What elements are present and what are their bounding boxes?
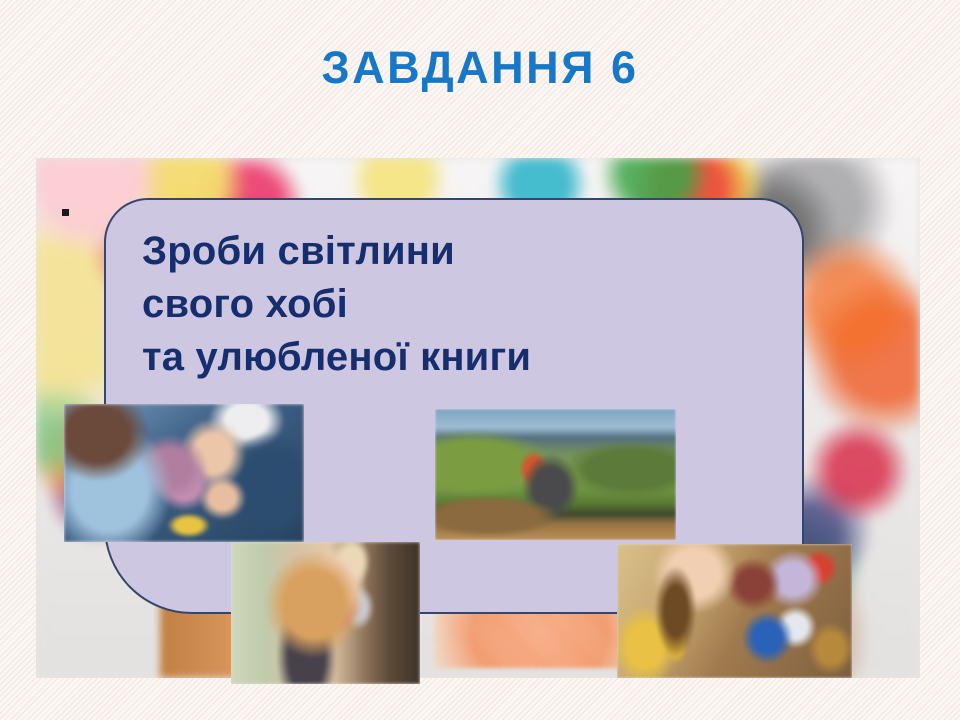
painting-photo-content [617, 544, 852, 678]
guitar-photo-content [231, 542, 420, 684]
bicycle-photo-content [435, 409, 676, 540]
slide-canvas: ЗАВДАННЯ 6 Зроби світлини свого хобі та … [0, 0, 960, 720]
page-title: ЗАВДАННЯ 6 [0, 42, 960, 94]
guitar-photo [231, 542, 420, 684]
bicycle-photo [435, 409, 676, 540]
knitting-photo [64, 404, 304, 542]
painting-photo [617, 544, 852, 678]
square-bullet-marker [62, 209, 69, 216]
knitting-photo-content [64, 404, 304, 542]
callout-text: Зроби світлини свого хобі та улюбленої к… [142, 225, 822, 383]
